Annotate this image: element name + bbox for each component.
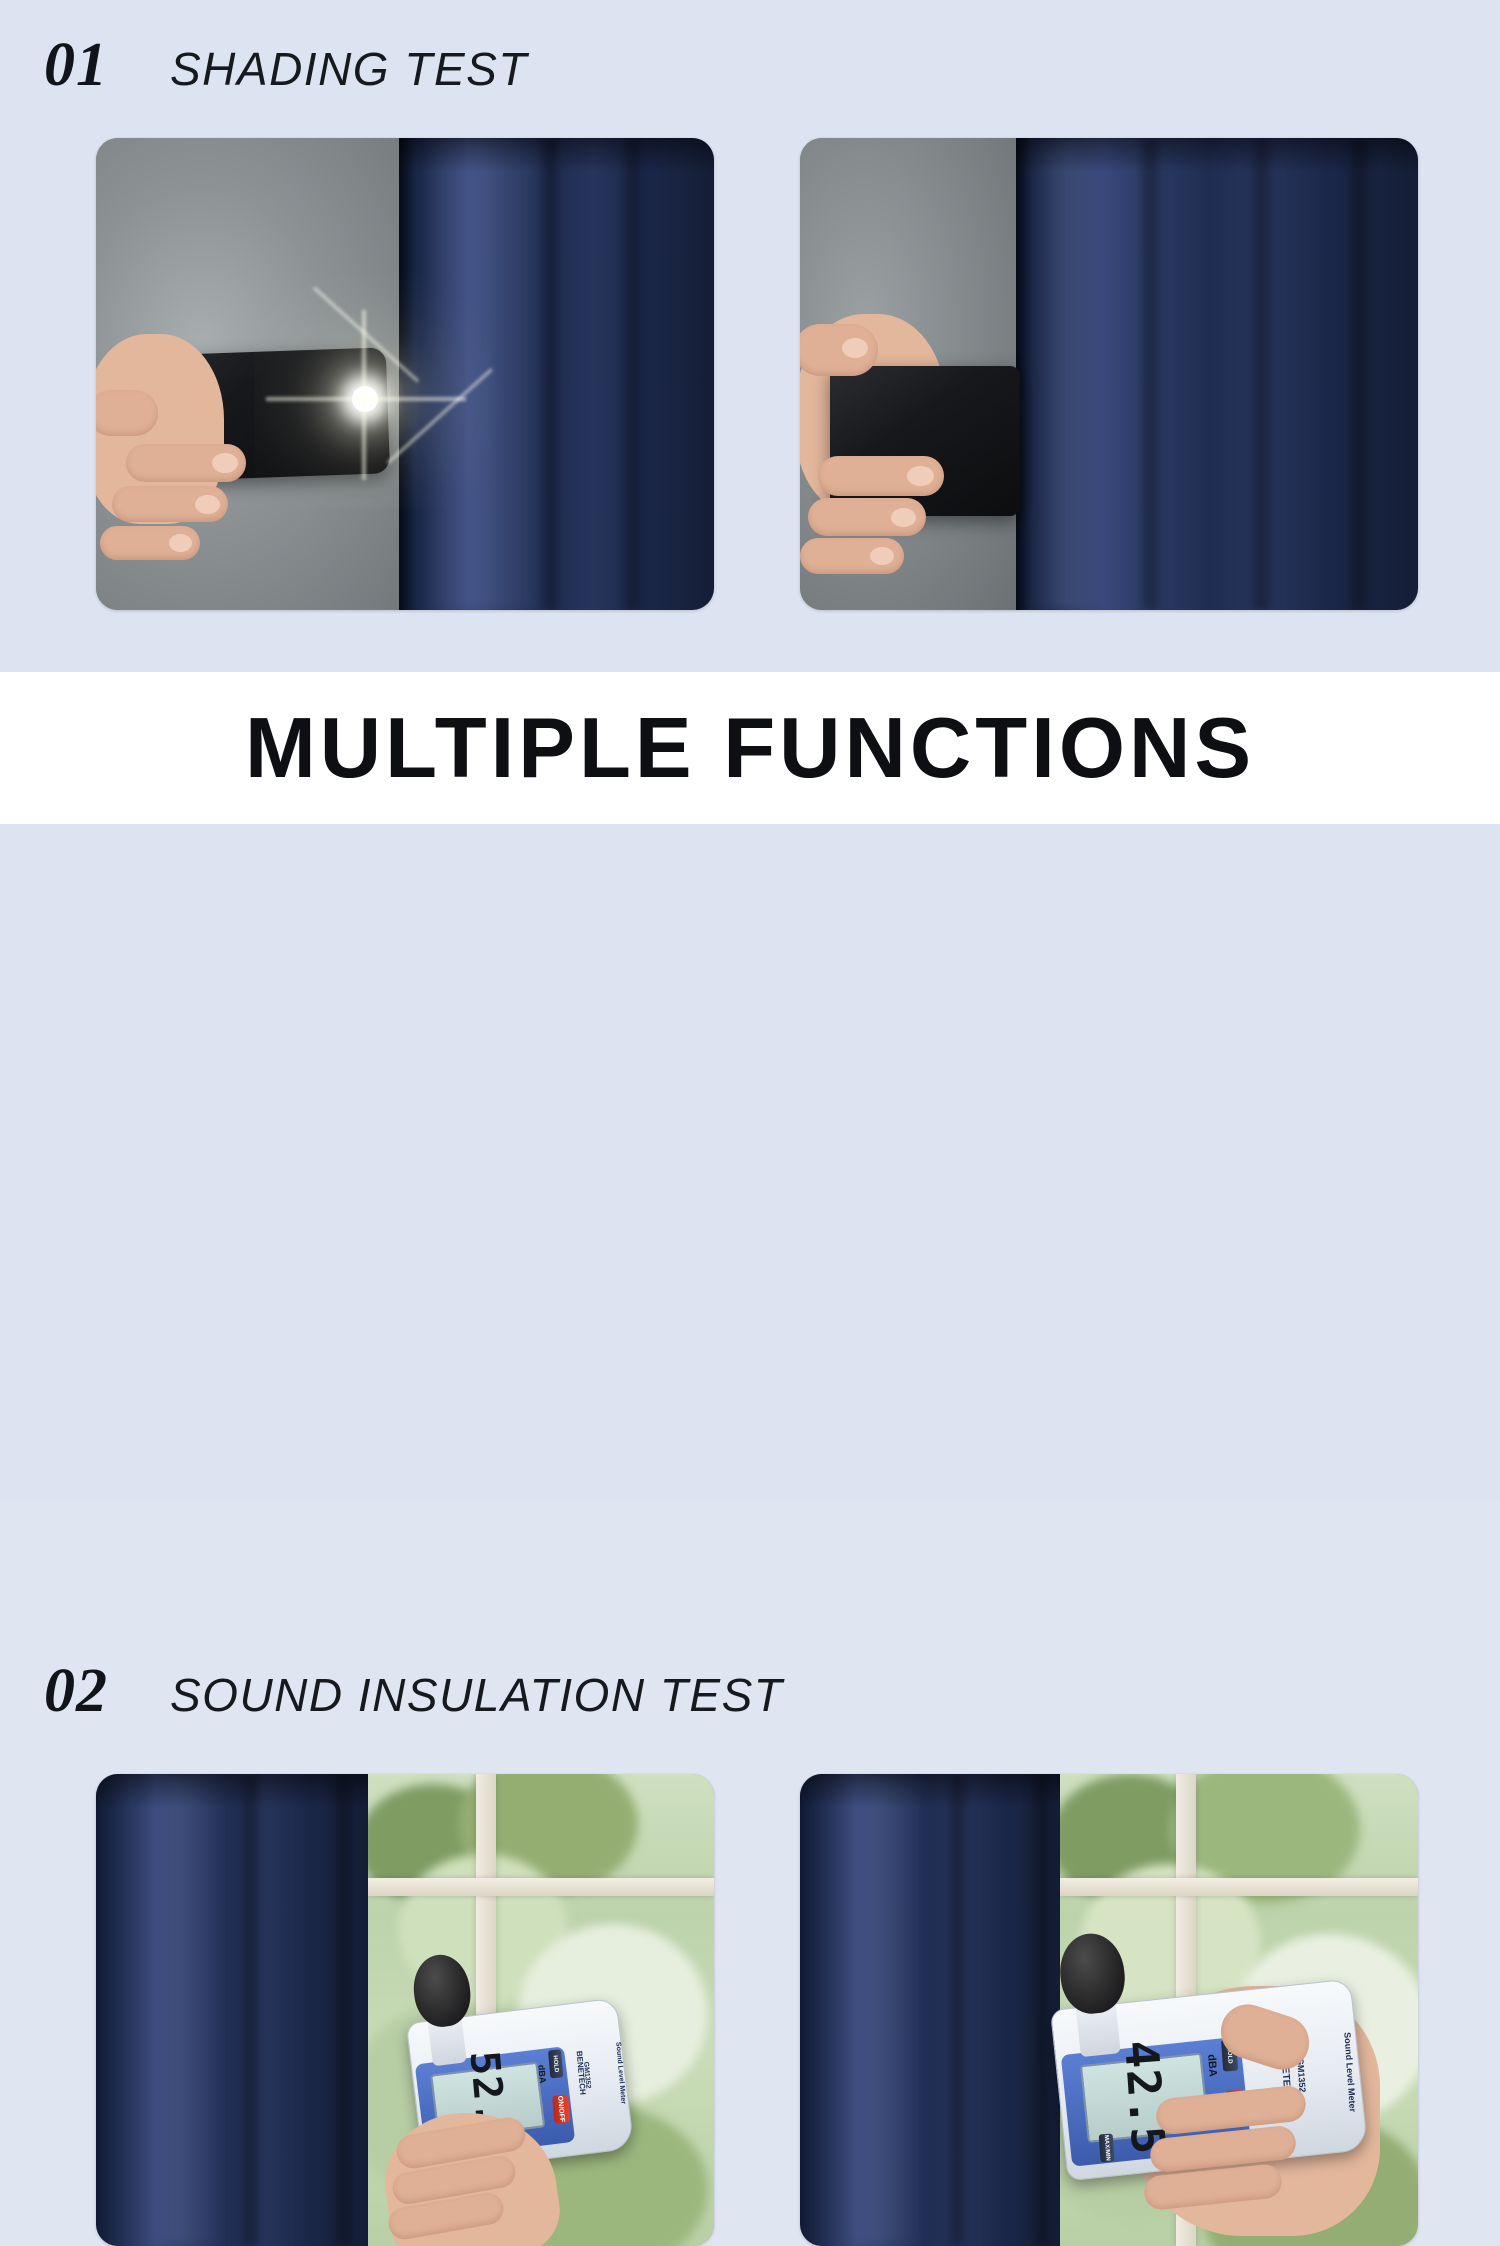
navy-curtain-panel [399, 138, 714, 610]
curtain-sheen-highlight [140, 1774, 232, 2246]
fingernail-2 [891, 508, 916, 527]
max-min-button[interactable]: MAX/MIN [1099, 2134, 1115, 2163]
finger-2 [112, 486, 228, 522]
curtain-fold-2 [330, 1774, 356, 2246]
curtain-fold-2 [1249, 138, 1275, 610]
finger-3 [800, 538, 904, 574]
photo-phone-flashlight [96, 138, 714, 610]
navy-curtain-panel [800, 1774, 1060, 2246]
meter-unit-label: dBA [536, 2064, 548, 2083]
finger-1 [126, 444, 246, 482]
curtain-fold-3 [1346, 138, 1372, 610]
thumbnail [842, 338, 868, 358]
curtain-top-shadow [1016, 138, 1418, 172]
window-mullion-horizontal [1060, 1878, 1418, 1896]
hold-button[interactable]: HOLD [548, 2049, 563, 2078]
flash-ray-horizontal [266, 397, 466, 401]
fingernail-1 [212, 453, 238, 473]
curtain-top-shadow [96, 1774, 368, 1808]
photo-phone-blocked [800, 138, 1418, 610]
navy-curtain-panel [1016, 138, 1418, 610]
fingernail-3 [169, 534, 192, 552]
fingernail-3 [870, 547, 894, 565]
photo-card-meter-behind-curtain: 42.5 dBA MAX/MIN HOLD ON/OFF BENETECH GM… [800, 1774, 1418, 2246]
thumb [96, 390, 158, 436]
banner-multiple-functions: MULTIPLE FUNCTIONS [0, 672, 1500, 824]
section-1-heading: 01 SHADING TEST [44, 30, 528, 101]
section-1-title: SHADING TEST [170, 42, 528, 96]
curtain-fold-1 [537, 138, 563, 610]
curtain-fold-1 [1137, 138, 1163, 610]
fingernail-1 [907, 466, 934, 486]
section-2-heading: 02 SOUND INSULATION TEST [44, 1656, 783, 1727]
finger-1 [818, 456, 944, 496]
section-1-number: 01 [44, 30, 108, 101]
photo-meter-window: 52.9 dBA MAX/MIN HOLD ON/OFF BENETECH GM… [96, 1774, 714, 2246]
section-shading-test: 01 SHADING TEST [0, 0, 1500, 672]
curtain-sheen-highlight [836, 1774, 929, 2246]
curtain-top-shadow [399, 138, 714, 172]
section-sound-insulation-test: 02 SOUND INSULATION TEST [0, 824, 1500, 1500]
section-2-number: 02 [44, 1656, 108, 1727]
navy-curtain-panel [96, 1774, 368, 2246]
photo-card-phone-flashlight [96, 138, 714, 610]
finger-2 [808, 498, 926, 536]
section-2-title: SOUND INSULATION TEST [170, 1668, 783, 1722]
window-mullion-horizontal [368, 1878, 714, 1896]
photo-meter-behind-curtain: 42.5 dBA MAX/MIN HOLD ON/OFF BENETECH GM… [800, 1774, 1418, 2246]
curtain-fold-1 [237, 1774, 263, 2246]
curtain-fold-2 [619, 138, 645, 610]
power-button[interactable]: ON/OFF [552, 2094, 570, 2123]
banner-headline: MULTIPLE FUNCTIONS [245, 706, 1255, 791]
finger-3 [100, 526, 200, 560]
photo-card-phone-blocked [800, 138, 1418, 610]
meter-unit-label: dBA [1205, 2054, 1219, 2077]
curtain-sheen-highlight [1024, 138, 1112, 610]
photo-card-meter-window: 52.9 dBA MAX/MIN HOLD ON/OFF BENETECH GM… [96, 1774, 714, 2246]
fingernail-2 [195, 495, 220, 514]
product-feature-page: 01 SHADING TEST [0, 0, 1500, 1500]
curtain-fold-1 [945, 1774, 971, 2246]
thumb [800, 324, 878, 376]
curtain-top-shadow [800, 1774, 1060, 1808]
